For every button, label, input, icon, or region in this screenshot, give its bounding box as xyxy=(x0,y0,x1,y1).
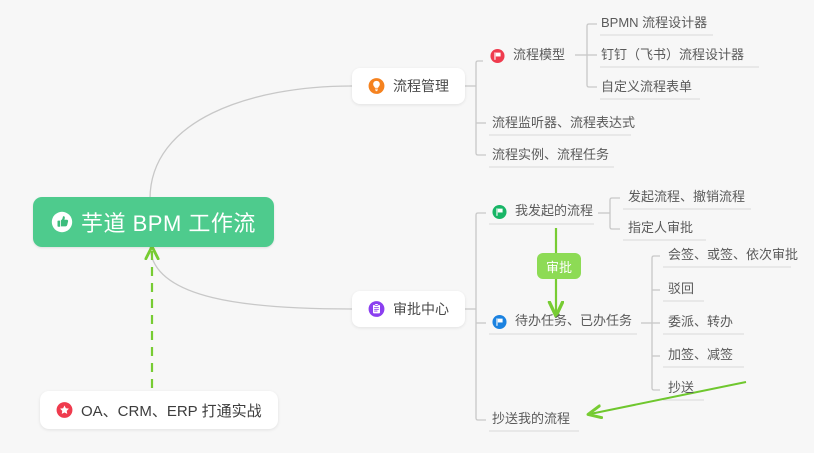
flag-icon xyxy=(490,48,505,63)
node-delegate-transfer[interactable]: 委派、转办 xyxy=(664,311,737,335)
mindmap-canvas: 芋道 BPM 工作流 流程管理 流程模型 BPMN 流程设计器 钉钉（飞书 xyxy=(0,0,814,453)
branch-node-process-management[interactable]: 流程管理 xyxy=(352,68,465,104)
node-label-process-listener-expression: 流程监听器、流程表达式 xyxy=(492,112,635,131)
node-bpmn-designer[interactable]: BPMN 流程设计器 xyxy=(597,12,711,36)
edge-my-started-spine xyxy=(610,198,620,229)
flag-icon xyxy=(492,204,507,219)
node-label-delegate-transfer: 委派、转办 xyxy=(668,311,733,330)
node-reject[interactable]: 驳回 xyxy=(664,278,698,302)
node-label-countersign: 会签、或签、依次审批 xyxy=(668,244,798,263)
star-badge-icon xyxy=(56,402,73,419)
node-my-started-process[interactable]: 我发起的流程 xyxy=(488,200,597,224)
node-label-todo-done-task: 待办任务、已办任务 xyxy=(515,310,632,329)
lightbulb-icon xyxy=(368,78,385,95)
edge-process-management-spine xyxy=(476,61,486,155)
node-process-instance-task[interactable]: 流程实例、流程任务 xyxy=(488,144,613,168)
node-label-process-instance-task: 流程实例、流程任务 xyxy=(492,144,609,163)
flag-icon xyxy=(492,314,507,329)
node-start-cancel-process[interactable]: 发起流程、撤销流程 xyxy=(624,186,749,210)
node-label-bpmn-designer: BPMN 流程设计器 xyxy=(601,12,707,31)
node-label-custom-process-form: 自定义流程表单 xyxy=(601,76,692,95)
node-label-cc: 抄送 xyxy=(668,377,694,396)
node-dingtalk-feishu-designer[interactable]: 钉钉（飞书）流程设计器 xyxy=(597,44,748,68)
node-label-my-started-process: 我发起的流程 xyxy=(515,200,593,219)
edge-approval-center-spine xyxy=(476,213,486,420)
annotation-tag-approval: 审批 xyxy=(537,253,581,279)
root-label: 芋道 BPM 工作流 xyxy=(81,206,256,238)
node-todo-done-task[interactable]: 待办任务、已办任务 xyxy=(488,310,636,334)
branch-label-process-management: 流程管理 xyxy=(393,76,449,96)
edge-process-model-spine xyxy=(587,24,597,87)
callout-label-integration: OA、CRM、ERP 打通实战 xyxy=(81,400,262,421)
node-label-start-cancel-process: 发起流程、撤销流程 xyxy=(628,186,745,205)
node-add-remove-sign[interactable]: 加签、减签 xyxy=(664,344,737,368)
node-process-model[interactable]: 流程模型 xyxy=(486,44,569,68)
node-cc-to-me-process[interactable]: 抄送我的流程 xyxy=(488,408,574,432)
branch-label-approval-center: 审批中心 xyxy=(393,299,449,319)
node-process-listener-expression[interactable]: 流程监听器、流程表达式 xyxy=(488,112,639,136)
node-label-cc-to-me-process: 抄送我的流程 xyxy=(492,408,570,427)
branch-node-approval-center[interactable]: 审批中心 xyxy=(352,291,465,327)
node-custom-process-form[interactable]: 自定义流程表单 xyxy=(597,76,696,100)
node-label-dingtalk-feishu-designer: 钉钉（飞书）流程设计器 xyxy=(601,44,744,63)
node-label-process-model: 流程模型 xyxy=(513,44,565,63)
clipboard-icon xyxy=(368,301,385,318)
edge-todo-spine xyxy=(652,256,660,390)
node-label-reject: 驳回 xyxy=(668,278,694,297)
node-assignee-approval[interactable]: 指定人审批 xyxy=(624,217,697,241)
edge-root-to-process-management xyxy=(150,86,352,199)
node-label-add-remove-sign: 加签、减签 xyxy=(668,344,733,363)
annotation-tag-label: 审批 xyxy=(546,257,572,276)
node-countersign[interactable]: 会签、或签、依次审批 xyxy=(664,244,802,268)
node-label-assignee-approval: 指定人审批 xyxy=(628,217,693,236)
callout-node-integration[interactable]: OA、CRM、ERP 打通实战 xyxy=(40,391,278,429)
root-node[interactable]: 芋道 BPM 工作流 xyxy=(33,197,274,247)
thumbs-up-icon xyxy=(51,211,73,233)
node-cc[interactable]: 抄送 xyxy=(664,377,698,401)
edge-root-to-approval-center xyxy=(150,245,352,309)
